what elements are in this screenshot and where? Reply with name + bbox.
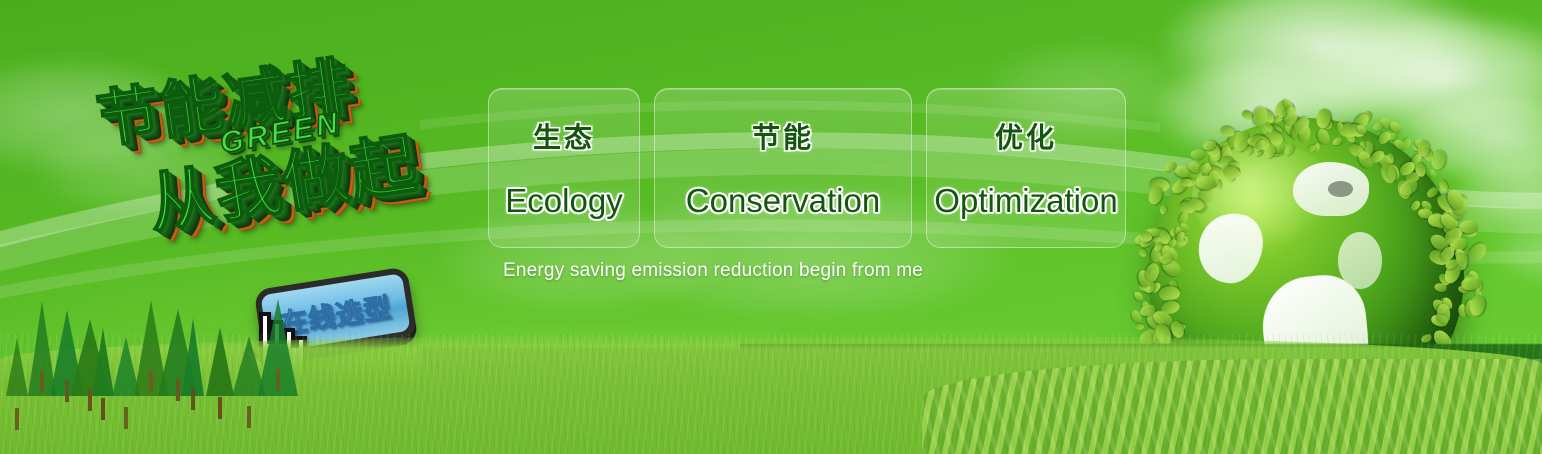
card-title-cn: 生态 — [533, 116, 595, 156]
promo-banner: 节能减排 从我做起 GREEN 在线选型 生态 Ecology 节能 Conse… — [0, 0, 1542, 454]
card-title-en: Optimization — [934, 182, 1117, 220]
leaf-litter — [922, 359, 1542, 454]
continent-africa — [1338, 232, 1382, 289]
card-title-cn: 优化 — [995, 116, 1057, 156]
headline-logo: 节能减排 从我做起 GREEN — [81, 18, 493, 292]
feature-card-conservation[interactable]: 节能 Conservation — [654, 88, 912, 248]
feature-card-ecology[interactable]: 生态 Ecology — [488, 88, 640, 248]
feature-card-optimization[interactable]: 优化 Optimization — [926, 88, 1126, 248]
feature-card-list: 生态 Ecology 节能 Conservation 优化 Optimizati… — [488, 88, 1126, 248]
card-title-en: Conservation — [686, 182, 880, 220]
banner-tagline: Energy saving emission reduction begin f… — [503, 260, 923, 282]
card-title-en: Ecology — [505, 182, 622, 220]
card-title-cn: 节能 — [752, 116, 814, 156]
conifer-trees-icon — [0, 291, 300, 396]
